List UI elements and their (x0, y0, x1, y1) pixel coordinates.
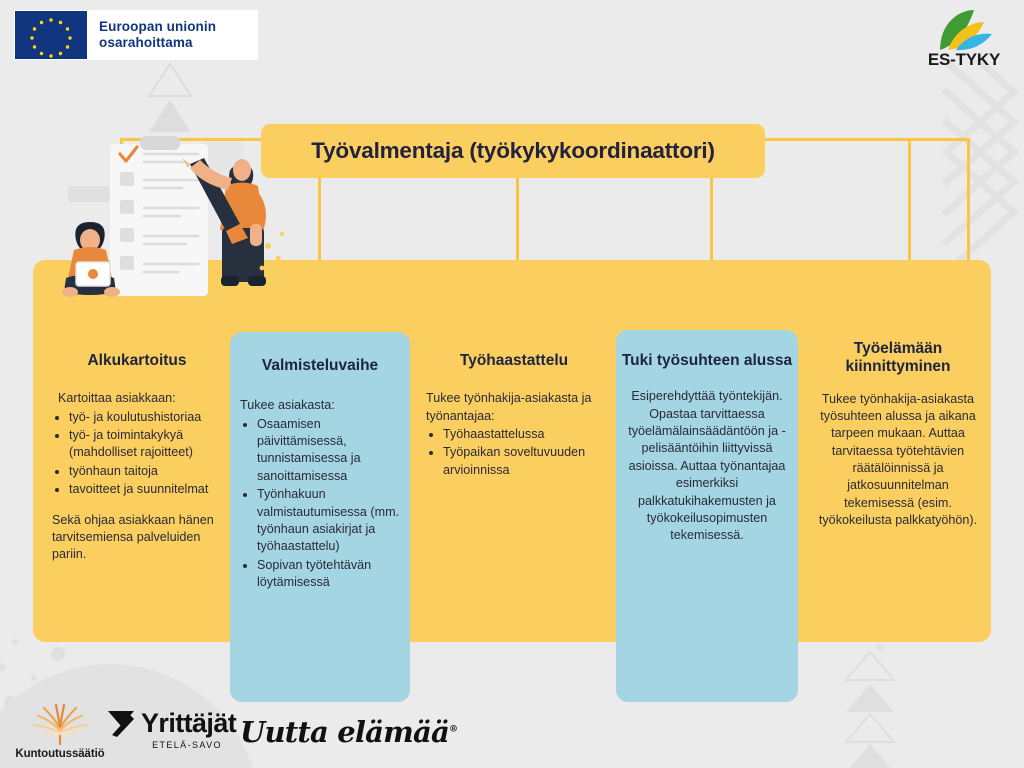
column-1-body: Kartoittaa asiakkaan: työ- ja koulutushi… (44, 390, 230, 563)
list-item: työnhaun taitoja (69, 463, 226, 480)
infographic-slide: Euroopan unionin osarahoittama ES-TYKY T… (0, 0, 1024, 768)
bracket-stem-5 (908, 138, 911, 263)
list-item: Työhaastattelussa (443, 426, 602, 443)
footer-logos: Kuntoutussäätiö Yrittäjät ETELÄ-SAVO Uut… (0, 698, 1024, 768)
es-tyky-logo-text: ES-TYKY (918, 50, 1010, 70)
logo-uutta-elamaa-text: Uutta elämää (240, 715, 449, 749)
main-title-box: Työvalmentaja (työkykykoordinaattori) (261, 124, 765, 178)
chevron-mark-icon (108, 709, 138, 739)
column-5-paragraph: Tukee työnhakija-asiakasta työsuhteen al… (816, 391, 980, 530)
eu-logo-text: Euroopan unionin osarahoittama (99, 19, 216, 52)
list-item: Sopivan työtehtävän löytämisessä (257, 557, 404, 592)
column-1-bullets: työ- ja koulutushistoriaa työ- ja toimin… (52, 409, 226, 499)
column-2-lead: Tukee asiakasta: (240, 397, 404, 414)
bracket-stem-6 (967, 138, 970, 263)
eu-logo-line2: osarahoittama (99, 35, 216, 51)
column-valmisteluvaihe[interactable]: Valmisteluvaihe Tukee asiakasta: Osaamis… (230, 332, 410, 702)
column-4-paragraph: Esiperehdyttää työntekijän. Opastaa tarv… (626, 388, 788, 544)
column-tyoelamaan-kiinnittyminen[interactable]: Työelämään kiinnittyminen Tukee työnhaki… (808, 340, 988, 530)
column-tuki-tyosuhteen-alussa[interactable]: Tuki työsuhteen alussa Esiperehdyttää ty… (616, 330, 798, 702)
logo-uutta-elamaa: Uutta elämää® (240, 715, 457, 749)
column-2-body: Tukee asiakasta: Osaamisen päivittämises… (230, 397, 410, 591)
column-3-lead: Tukee työnhakija-asiakasta ja työnantaja… (426, 390, 602, 425)
page-title: Työvalmentaja (työkykykoordinaattori) (311, 138, 715, 164)
column-4-body: Esiperehdyttää työntekijän. Opastaa tarv… (616, 388, 798, 544)
eu-logo-line1: Euroopan unionin (99, 19, 216, 35)
logo-kuntoutussaatio: Kuntoutussäätiö (14, 702, 106, 760)
column-3-heading: Työhaastattelu (418, 352, 610, 370)
column-1-after: Sekä ohjaa asiakkaan hänen tarvitsemiens… (52, 512, 226, 564)
logo-yrittajat-text: Yrittäjät (141, 708, 236, 739)
list-item: tavoitteet ja suunnitelmat (69, 481, 226, 498)
list-item: Osaamisen päivittämisessä, tunnistamises… (257, 416, 404, 486)
registered-mark: ® (449, 724, 457, 734)
column-4-heading: Tuki työsuhteen alussa (616, 330, 798, 370)
column-2-bullets: Osaamisen päivittämisessä, tunnistamises… (240, 416, 404, 592)
column-5-body: Tukee työnhakija-asiakasta työsuhteen al… (808, 391, 988, 530)
logo-kuntoutussaatio-text: Kuntoutussäätiö (14, 748, 106, 760)
list-item: työ- ja koulutushistoriaa (69, 409, 226, 426)
eu-funding-logo: Euroopan unionin osarahoittama (14, 10, 258, 60)
tree-icon (14, 702, 106, 746)
es-tyky-logo: ES-TYKY (918, 8, 1010, 70)
list-item: työ- ja toimintakykyä (mahdolliset rajoi… (69, 427, 226, 462)
column-3-bullets: Työhaastattelussa Työpaikan soveltuvuude… (426, 426, 602, 479)
column-5-heading: Työelämään kiinnittyminen (808, 340, 988, 377)
logo-yrittajat: Yrittäjät ETELÄ-SAVO (108, 708, 238, 754)
list-item: Työpaikan soveltuvuuden arvioinnissa (443, 444, 602, 479)
column-alkukartoitus[interactable]: Alkukartoitus Kartoittaa asiakkaan: työ-… (44, 352, 230, 564)
column-3-body: Tukee työnhakija-asiakasta ja työnantaja… (418, 390, 610, 479)
column-1-lead: Kartoittaa asiakkaan: (52, 390, 226, 407)
list-item: Työnhakuun valmistautumisessa (mm. työnh… (257, 486, 404, 556)
column-2-heading: Valmisteluvaihe (230, 332, 410, 375)
eu-flag-icon (15, 11, 87, 59)
es-tyky-leaf-icon (918, 8, 1010, 52)
column-1-heading: Alkukartoitus (44, 352, 230, 370)
decor-triangles-top-left (145, 62, 195, 134)
column-tyohaastattelu[interactable]: Työhaastattelu Tukee työnhakija-asiakast… (418, 352, 610, 480)
logo-yrittajat-subtext: ETELÄ-SAVO (136, 740, 238, 750)
